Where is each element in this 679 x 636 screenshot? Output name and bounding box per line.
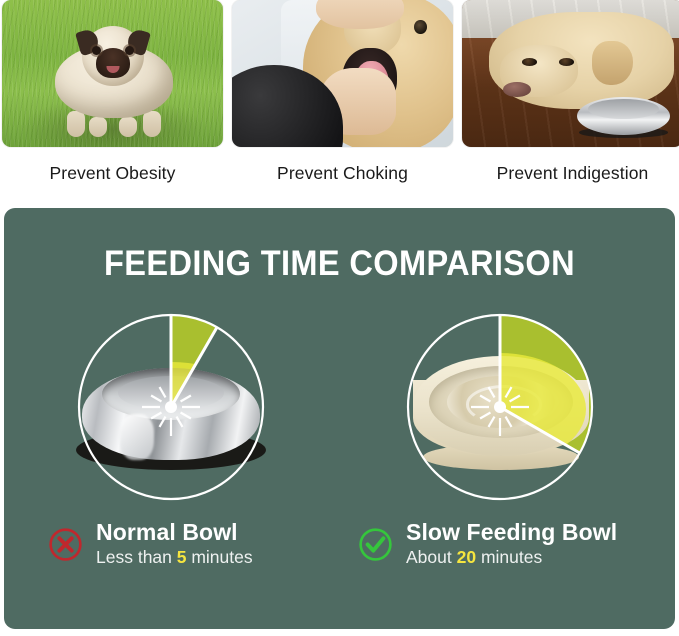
circle-check-icon — [358, 527, 393, 562]
normal-bowl-detail: Less than 5 minutes — [96, 547, 253, 569]
pug-leg — [89, 117, 107, 137]
photo-hand-holding-dog-jaw — [232, 0, 453, 147]
dog-eye — [522, 58, 537, 66]
benefit-caption-obesity: Prevent Obesity — [50, 163, 176, 184]
steel-bowl-on-floor — [577, 97, 670, 135]
vet-scene-background — [232, 0, 453, 147]
benefit-card-indigestion: Prevent Indigestion — [462, 0, 679, 196]
benefit-caption-indigestion: Prevent Indigestion — [497, 163, 649, 184]
circle-x-icon — [48, 527, 83, 562]
clock-dial-front — [68, 304, 274, 510]
slow-feeding-bowl-text: Slow Feeding Bowl About 20 minutes — [406, 520, 617, 569]
photo-labrador-beside-bowl — [462, 0, 679, 147]
slow-feeding-bowl-clock — [397, 304, 603, 510]
dog-eye — [559, 58, 574, 66]
pug-leg — [67, 111, 85, 137]
feeding-time-comparison-panel: FEEDING TIME COMPARISON — [4, 208, 675, 629]
panel-title: FEEDING TIME COMPARISON — [27, 244, 651, 284]
normal-bowl-title: Normal Bowl — [96, 520, 253, 546]
labrador-illustration — [489, 12, 675, 109]
pug-eye — [92, 46, 101, 55]
benefits-strip: Prevent Obesity Prev — [0, 0, 679, 196]
pug-eye — [125, 46, 134, 55]
slow-feeding-bowl-detail: About 20 minutes — [406, 547, 617, 569]
photo-fat-pug-on-grass — [2, 0, 223, 147]
comparison-labels-row: Normal Bowl Less than 5 minutes Slow Fee… — [4, 520, 675, 592]
detail-prefix: About — [406, 547, 457, 567]
clock-comparison-row — [4, 304, 675, 510]
detail-prefix: Less than — [96, 547, 177, 567]
infographic-page: Prevent Obesity Prev — [0, 0, 679, 636]
normal-bowl-label: Normal Bowl Less than 5 minutes — [48, 520, 253, 569]
pug-leg — [143, 111, 161, 137]
dog-nose — [503, 82, 531, 98]
pug-illustration — [49, 26, 177, 134]
clock-dial-front — [397, 304, 603, 510]
detail-suffix: minutes — [186, 547, 252, 567]
dog-ear — [592, 41, 633, 86]
benefit-card-obesity: Prevent Obesity — [2, 0, 223, 196]
pug-head — [82, 26, 144, 86]
slow-feeding-bowl-title: Slow Feeding Bowl — [406, 520, 617, 546]
bowl-inner — [588, 99, 659, 119]
normal-bowl-text: Normal Bowl Less than 5 minutes — [96, 520, 253, 569]
dog-eye — [414, 20, 427, 34]
normal-bowl-clock — [68, 304, 274, 510]
slow-feeding-bowl-label: Slow Feeding Bowl About 20 minutes — [358, 520, 617, 569]
benefit-caption-choking: Prevent Choking — [277, 163, 408, 184]
detail-value: 20 — [457, 547, 476, 567]
benefit-card-choking: Prevent Choking — [232, 0, 453, 196]
detail-suffix: minutes — [476, 547, 542, 567]
clock-center-dot — [165, 401, 177, 413]
clock-center-dot — [494, 401, 506, 413]
pug-leg — [119, 117, 137, 137]
